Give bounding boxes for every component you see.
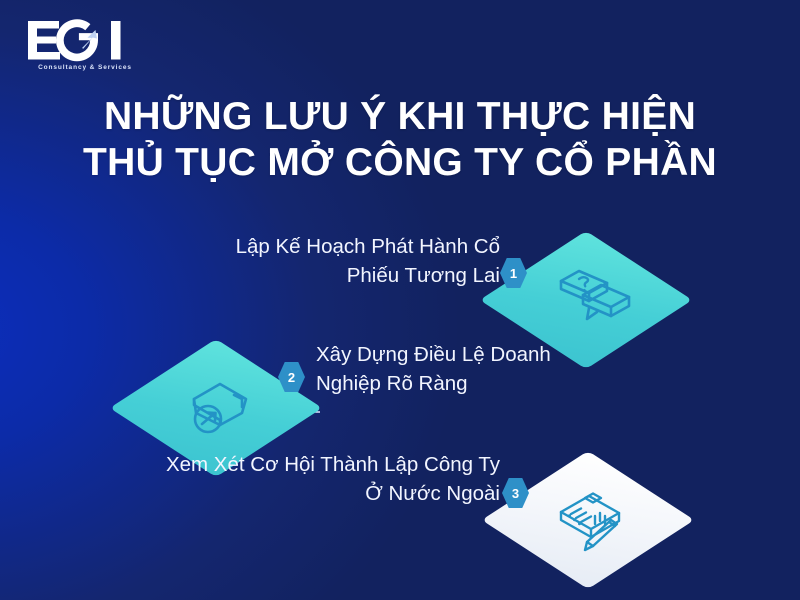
step-3-line-2: Ở Nước Ngoài — [60, 479, 500, 508]
step-1-line-1: Lập Kế Hoạch Phát Hành Cổ — [80, 232, 500, 261]
step-1-number: 1 — [510, 266, 517, 281]
step-1-text: Lập Kế Hoạch Phát Hành Cổ Phiếu Tương La… — [80, 232, 500, 290]
page-title-line-2: THỦ TỤC MỞ CÔNG TY CỔ PHẦN — [0, 140, 800, 186]
step-2-number: 2 — [288, 370, 295, 385]
step-3-text: Xem Xét Cơ Hội Thành Lập Công Ty Ở Nước … — [60, 450, 500, 508]
brand-logo: Consultancy & Services — [26, 18, 156, 80]
step-2-line-2: Nghiệp Rõ Ràng — [316, 369, 716, 398]
page-title-line-1: NHỮNG LƯU Ý KHI THỰC HIỆN — [0, 94, 800, 140]
step-3-tile-face — [482, 451, 695, 589]
step-3-tile[interactable] — [500, 432, 676, 600]
page-title: NHỮNG LƯU Ý KHI THỰC HIỆN THỦ TỤC MỞ CÔN… — [0, 94, 800, 185]
egi-logo-icon — [26, 18, 144, 62]
step-2-text: Xây Dựng Điều Lệ Doanh Nghiệp Rõ Ràng — [316, 340, 716, 398]
step-3-number: 3 — [512, 486, 519, 501]
infographic-canvas: Consultancy & Services NHỮNG LƯU Ý KHI T… — [0, 0, 800, 600]
step-1-line-2: Phiếu Tương Lai — [80, 261, 500, 290]
step-3-line-1: Xem Xét Cơ Hội Thành Lập Công Ty — [60, 450, 500, 479]
brand-tagline: Consultancy & Services — [26, 64, 144, 71]
step-2-line-1: Xây Dựng Điều Lệ Doanh — [316, 340, 716, 369]
